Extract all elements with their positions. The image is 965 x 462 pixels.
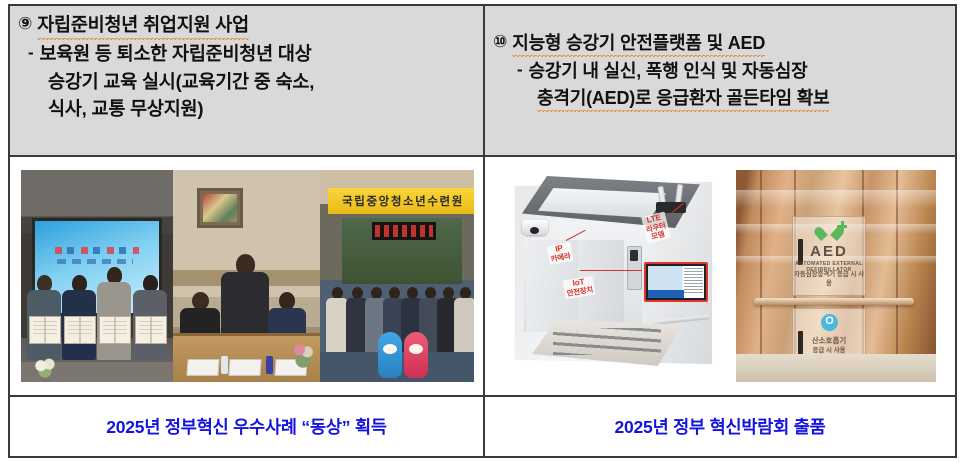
right-body-text-1: 승강기 내 실신, 폭행 인식 및 자동심장 xyxy=(528,58,807,84)
meeting-room-photo xyxy=(173,170,320,382)
wall-picture-frame xyxy=(197,188,243,228)
right-header-cell: ⑩ 지능형 승강기 안전플랫폼 및 AED - 승강기 내 실신, 폭행 인식 … xyxy=(485,6,955,157)
left-header-cell: ⑨ 자립준비청년 취업지원 사업 - 보육원 등 퇴소한 자립준비청년 대상 승… xyxy=(10,6,485,157)
award-recipient xyxy=(97,267,131,360)
name-card xyxy=(228,359,261,376)
aed-cabinet-subtitle-ko: 자동심장충격기 응급 시 사용 xyxy=(793,269,865,287)
building-banner-text: 국립중앙청소년수련원 xyxy=(342,193,464,209)
right-photo-cell: LTE 라우터 모뎀 IP 카메라 IoT 안전장치 xyxy=(485,157,955,397)
right-item-title: 지능형 승강기 안전플랫폼 및 AED xyxy=(512,30,765,57)
left-caption-cell: 2025년 정부혁신 우수사례 “동상” 획득 xyxy=(10,397,485,456)
elevator-handrail xyxy=(754,298,914,305)
right-body-text-2: 충격기(AED)로 응급환자 골든타임 확보 xyxy=(537,85,829,112)
led-display-board xyxy=(372,222,436,240)
screen-logo-secondary xyxy=(57,259,133,264)
two-column-grid: ⑨ 자립준비청년 취업지원 사업 - 보육원 등 퇴소한 자립준비청년 대상 승… xyxy=(8,4,957,458)
left-body-text-1: 보육원 등 퇴소한 자립준비청년 대상 xyxy=(39,41,311,68)
screen-logo xyxy=(55,247,139,254)
left-header-body-line-2: 승강기 교육 실시(교육기간 중 숙소, xyxy=(18,69,475,96)
right-item-number: ⑩ xyxy=(493,30,507,54)
iot-display-monitor xyxy=(644,262,708,302)
flower-vase xyxy=(291,342,315,368)
group-photo: 국립중앙청소년수련원 xyxy=(320,170,474,382)
slide-table: ⑨ 자립준비청년 취업지원 사업 - 보육원 등 퇴소한 자립준비청년 대상 승… xyxy=(0,0,965,462)
left-bullet-marker: - xyxy=(28,41,33,66)
left-body-text-3: 식사, 교통 무상지원) xyxy=(48,96,203,123)
aed-cabinet[interactable]: AED AUTOMATED EXTERNAL DEFIBRILLATOR 자동심… xyxy=(792,216,866,296)
award-recipient xyxy=(133,275,167,360)
flower-arrangement xyxy=(33,358,59,380)
right-header-body-line-2: 충격기(AED)로 응급환자 골든타임 확보 xyxy=(493,85,947,112)
right-caption-text: 2025년 정부 혁신박람회 출품 xyxy=(614,414,825,439)
name-card xyxy=(186,359,219,376)
right-caption-cell: 2025년 정부 혁신박람회 출품 xyxy=(485,397,955,456)
award-recipient xyxy=(27,275,61,360)
water-bottle xyxy=(221,356,228,374)
intelligent-elevator-diagram: LTE 라우터 모뎀 IP 카메라 IoT 안전장치 xyxy=(504,170,722,382)
water-bottle xyxy=(266,356,273,374)
mascot-figure xyxy=(378,332,402,378)
left-item-number: ⑨ xyxy=(18,12,32,36)
mascot-figure xyxy=(404,332,428,378)
ip-camera-icon xyxy=(522,220,548,235)
elevator-floor xyxy=(736,354,936,382)
left-photo-cell: 국립중앙청소년수련원 xyxy=(10,157,485,397)
iot-leader-line xyxy=(580,270,642,271)
elevator-control-panel xyxy=(627,246,642,290)
award-recipient xyxy=(62,275,96,360)
left-header-body-line-1: - 보육원 등 퇴소한 자립준비청년 대상 xyxy=(18,41,475,68)
award-ceremony-photo xyxy=(21,170,173,382)
left-header-title-line: ⑨ 자립준비청년 취업지원 사업 xyxy=(18,12,475,40)
left-item-title: 자립준비청년 취업지원 사업 xyxy=(37,12,249,40)
right-media-group: LTE 라우터 모뎀 IP 카메라 IoT 안전장치 xyxy=(504,157,936,395)
left-header-body-line-3: 식사, 교통 무상지원) xyxy=(18,96,475,123)
right-header-title-line: ⑩ 지능형 승강기 안전플랫폼 및 AED xyxy=(493,30,947,57)
oxygen-icon xyxy=(821,314,838,331)
aed-elevator-door-photo: AED AUTOMATED EXTERNAL DEFIBRILLATOR 자동심… xyxy=(736,170,936,382)
cross-icon xyxy=(837,221,847,231)
left-photo-collage: 국립중앙청소년수련원 xyxy=(21,170,474,382)
right-header-body-line-1: - 승강기 내 실신, 폭행 인식 및 자동심장 xyxy=(493,58,947,84)
left-caption-text: 2025년 정부혁신 우수사례 “동상” 획득 xyxy=(106,414,387,439)
left-body-text-2: 승강기 교육 실시(교육기간 중 숙소, xyxy=(48,69,314,96)
heart-icon xyxy=(820,223,838,239)
right-bullet-marker: - xyxy=(517,58,522,83)
building-banner: 국립중앙청소년수련원 xyxy=(328,188,474,214)
aed-cabinet-title: AED xyxy=(793,243,865,260)
oxygen-cabinet-subtitle-ko: 응급 시 사용 xyxy=(793,345,865,354)
